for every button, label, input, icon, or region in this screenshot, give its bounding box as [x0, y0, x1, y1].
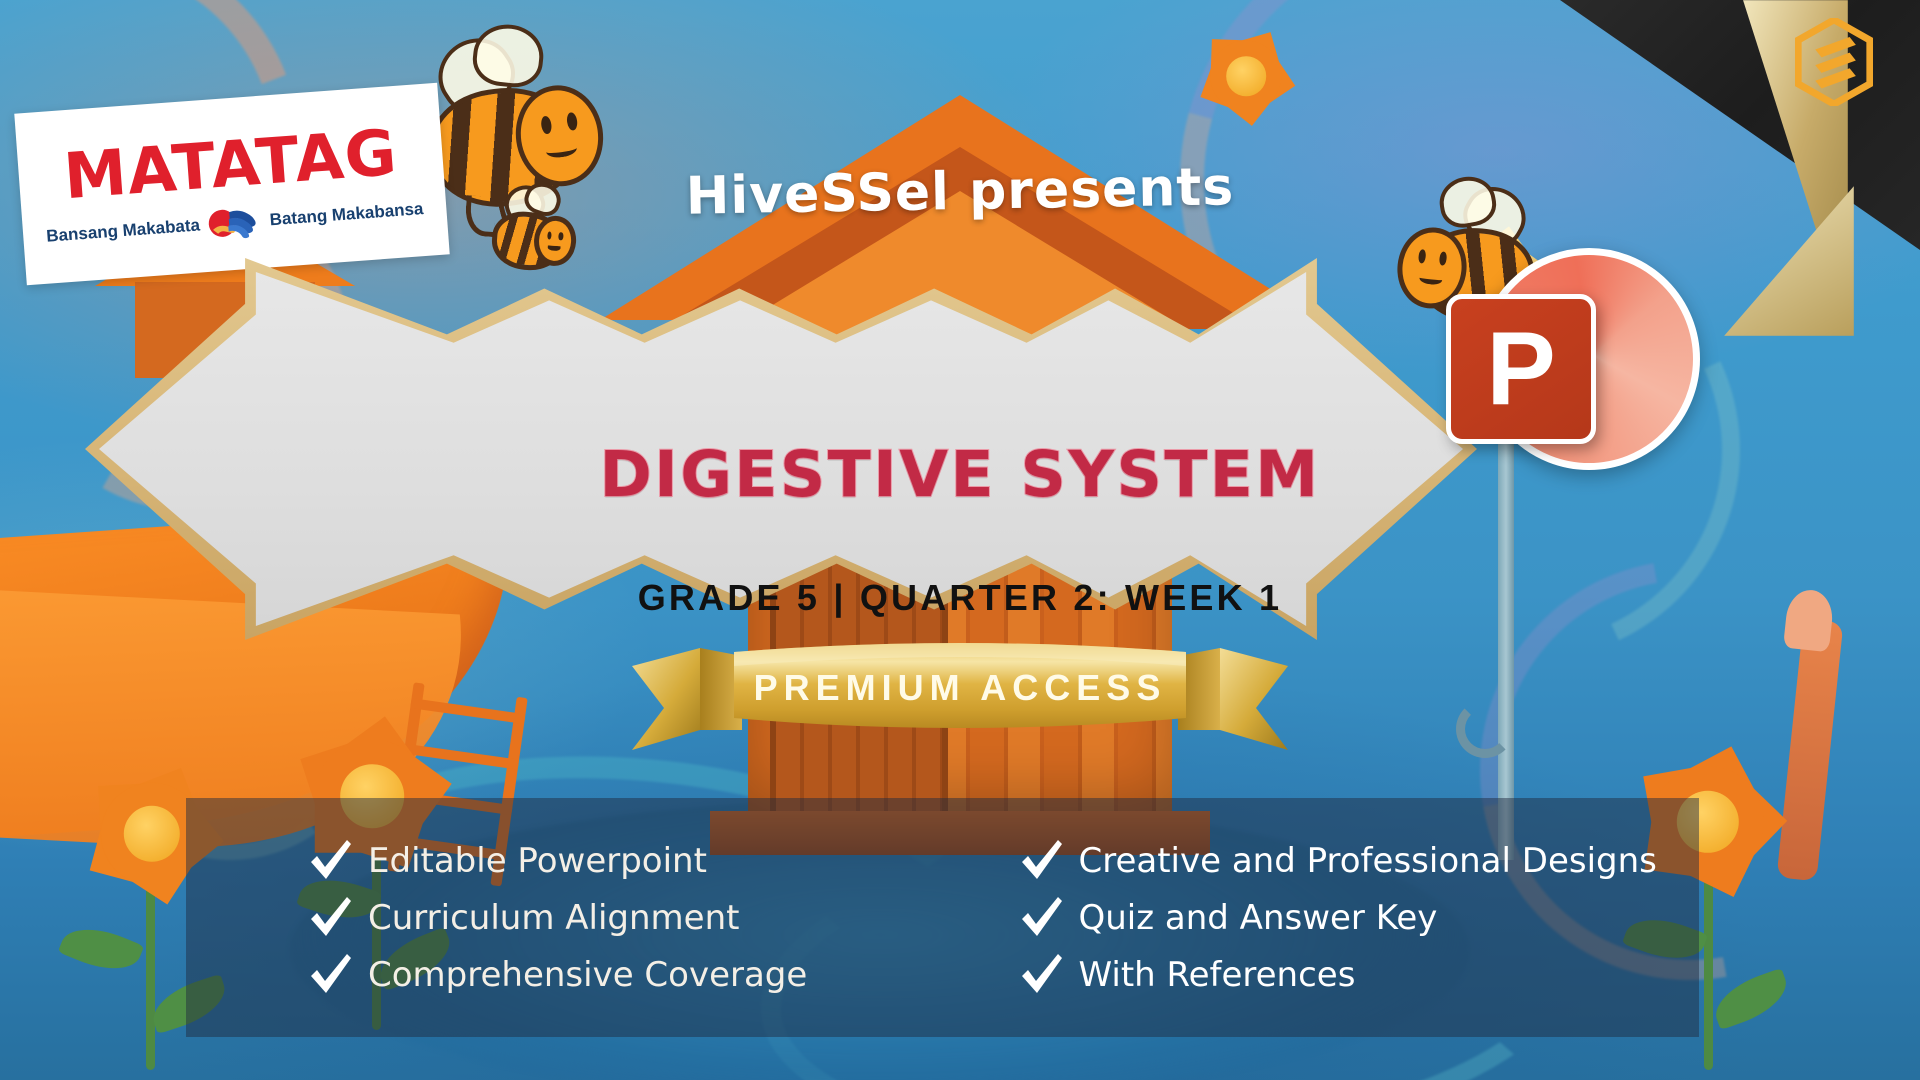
check-icon [1017, 894, 1065, 942]
page-title: DIGESTIVE SYSTEM [0, 438, 1920, 511]
feature-label: Comprehensive Coverage [368, 955, 807, 995]
check-icon [306, 951, 354, 999]
features-left-column: Editable Powerpoint Curriculum Alignment… [186, 798, 989, 1037]
flower-icon [1180, 10, 1312, 142]
check-icon [1017, 837, 1065, 885]
feature-label: With References [1079, 955, 1356, 995]
features-right-column: Creative and Professional Designs Quiz a… [989, 798, 1700, 1037]
feature-label: Curriculum Alignment [368, 898, 739, 938]
list-item: Creative and Professional Designs [1017, 837, 1700, 885]
ribbon-label: PREMIUM ACCESS [754, 667, 1167, 708]
hook-icon [1456, 700, 1514, 758]
list-item: Comprehensive Coverage [306, 951, 989, 999]
feature-label: Creative and Professional Designs [1079, 841, 1657, 881]
list-item: Editable Powerpoint [306, 837, 989, 885]
feature-label: Quiz and Answer Key [1079, 898, 1438, 938]
features-panel: Editable Powerpoint Curriculum Alignment… [186, 798, 1699, 1037]
hexagon-hive-logo-icon [1795, 18, 1873, 106]
check-icon [306, 837, 354, 885]
list-item: Quiz and Answer Key [1017, 894, 1700, 942]
list-item: With References [1017, 951, 1700, 999]
slide-canvas: MATATAG Bansang Makabata Batang Makabans… [0, 0, 1920, 1080]
check-icon [1017, 951, 1065, 999]
powerpoint-icon: P [1446, 294, 1596, 444]
premium-access-ribbon: PREMIUM ACCESS [630, 638, 1290, 766]
list-item: Curriculum Alignment [306, 894, 989, 942]
page-subtitle: GRADE 5 | QUARTER 2: WEEK 1 [0, 577, 1920, 619]
powerpoint-badge[interactable]: P [1478, 248, 1700, 470]
check-icon [306, 894, 354, 942]
feature-label: Editable Powerpoint [368, 841, 707, 881]
